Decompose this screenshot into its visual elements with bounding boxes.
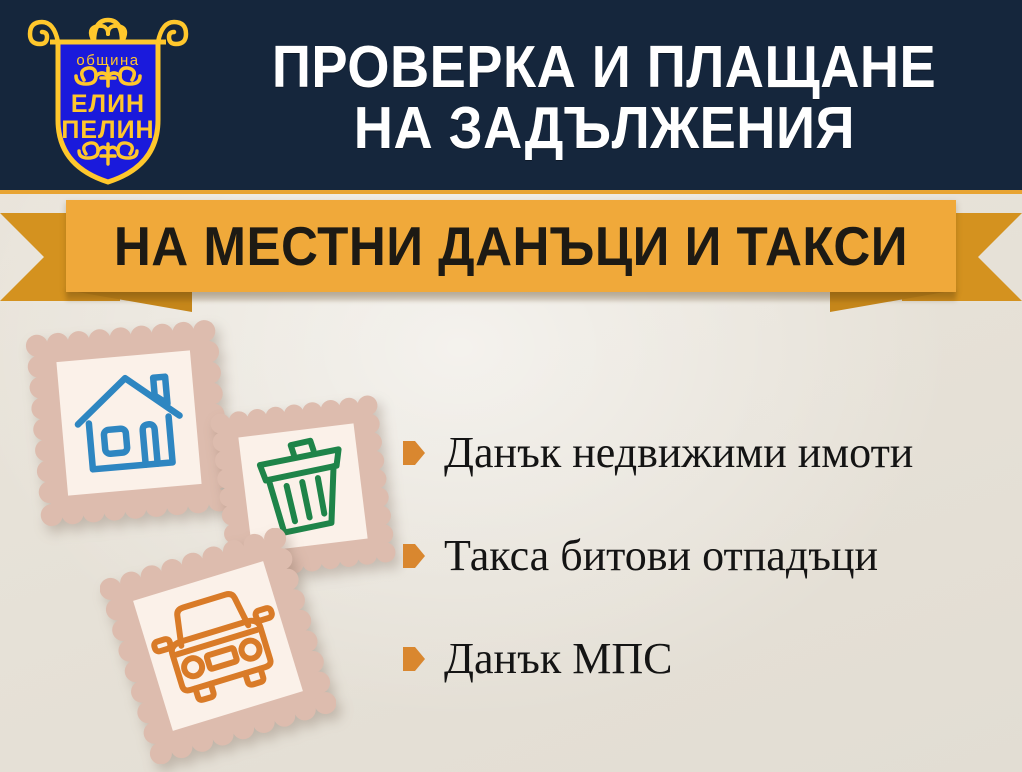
ribbon-banner: НА МЕСТНИ ДАНЪЦИ И ТАКСИ [0,194,1022,314]
bullet-arrow-icon [403,544,425,568]
list-item[interactable]: Данък недвижими имоти [403,424,1013,482]
tax-type-list: Данък недвижими имоти Такса битови отпад… [403,424,1013,688]
header-title-line-1: ПРОВЕРКА И ПЛАЩАНЕ [272,37,936,98]
bullet-arrow-icon [403,647,425,671]
crest-label-line1: ЕЛИН [71,90,145,118]
bullet-arrow-icon [403,441,425,465]
crest-label-line2: ПЕЛИН [61,116,154,144]
list-item[interactable]: Данък МПС [403,630,1013,688]
header-title-group: ПРОВЕРКА И ПЛАЩАНЕ НА ЗАДЪЛЖЕНИЯ [196,16,1012,180]
list-item-label: Такса битови отпадъци [444,534,878,578]
header-title-line-2: НА ЗАДЪЛЖЕНИЯ [353,98,854,159]
list-item[interactable]: Такса битови отпадъци [403,527,1013,585]
stamp-vehicle [100,528,336,764]
list-item-label: Данък МПС [444,637,672,681]
crest-artwork: община ЕЛИН ПЕЛИН [24,8,192,188]
municipality-crest: община ЕЛИН ПЕЛИН [24,8,192,188]
poster-canvas: община ЕЛИН ПЕЛИН [0,0,1022,772]
header-bar: община ЕЛИН ПЕЛИН [0,0,1022,194]
ribbon-label: НА МЕСТНИ ДАНЪЦИ И ТАКСИ [114,219,908,274]
ribbon-plate: НА МЕСТНИ ДАНЪЦИ И ТАКСИ [66,200,956,292]
list-item-label: Данък недвижими имоти [444,431,913,475]
